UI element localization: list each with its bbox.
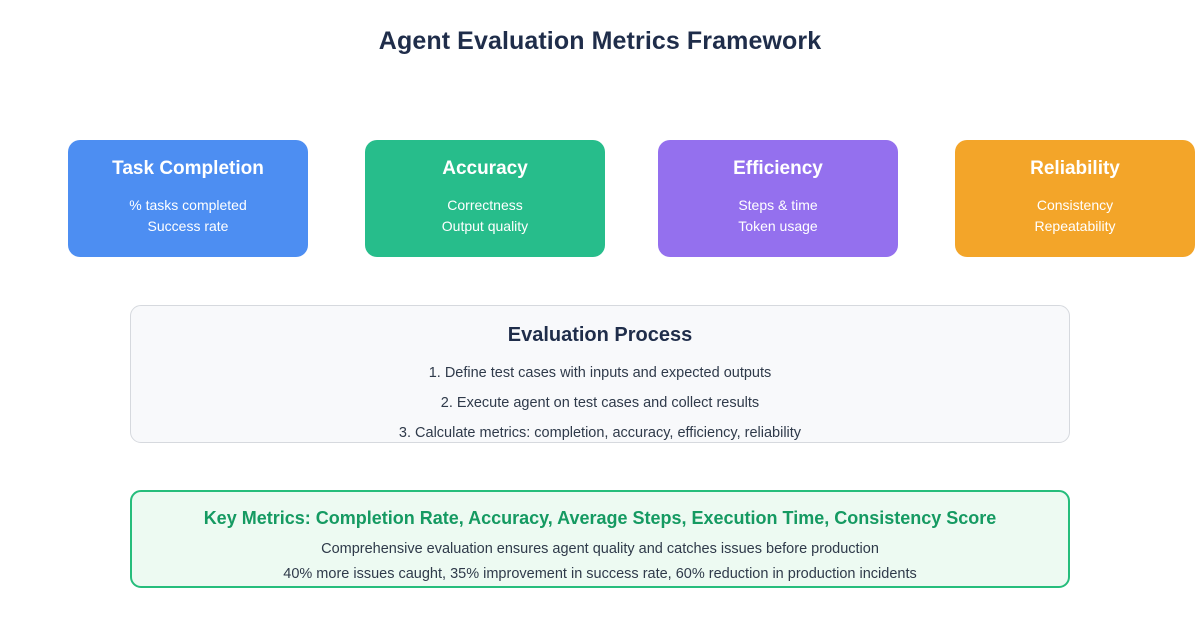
- key-metrics-line: 40% more issues caught, 35% improvement …: [132, 562, 1068, 587]
- metric-card-title: Efficiency: [658, 157, 898, 181]
- metric-card-task-completion[interactable]: Task Completion % tasks completed Succes…: [68, 140, 308, 257]
- metric-card-details: % tasks completed Success rate: [68, 195, 308, 237]
- metric-card-line: Token usage: [658, 216, 898, 237]
- evaluation-process-step: 3. Calculate metrics: completion, accura…: [131, 418, 1069, 448]
- metric-card-line: Correctness: [365, 195, 605, 216]
- metric-card-line: Repeatability: [955, 216, 1195, 237]
- page-title: Agent Evaluation Metrics Framework: [0, 27, 1200, 56]
- metric-card-line: Success rate: [68, 216, 308, 237]
- metric-card-line: Consistency: [955, 195, 1195, 216]
- key-metrics-title: Key Metrics: Completion Rate, Accuracy, …: [132, 506, 1068, 530]
- metric-card-accuracy[interactable]: Accuracy Correctness Output quality: [365, 140, 605, 257]
- metric-card-title: Reliability: [955, 157, 1195, 181]
- evaluation-process-step: 1. Define test cases with inputs and exp…: [131, 358, 1069, 388]
- metric-card-title: Accuracy: [365, 157, 605, 181]
- metric-card-details: Consistency Repeatability: [955, 195, 1195, 237]
- key-metrics-line: Comprehensive evaluation ensures agent q…: [132, 537, 1068, 562]
- metric-card-title: Task Completion: [68, 157, 308, 181]
- metric-cards-row: Task Completion % tasks completed Succes…: [68, 140, 1168, 257]
- evaluation-process-step: 2. Execute agent on test cases and colle…: [131, 388, 1069, 418]
- metric-card-efficiency[interactable]: Efficiency Steps & time Token usage: [658, 140, 898, 257]
- metric-card-reliability[interactable]: Reliability Consistency Repeatability: [955, 140, 1195, 257]
- metric-card-details: Correctness Output quality: [365, 195, 605, 237]
- metric-card-line: % tasks completed: [68, 195, 308, 216]
- evaluation-process-panel: Evaluation Process 1. Define test cases …: [130, 305, 1070, 443]
- metric-card-details: Steps & time Token usage: [658, 195, 898, 237]
- metric-card-line: Steps & time: [658, 195, 898, 216]
- metric-card-line: Output quality: [365, 216, 605, 237]
- key-metrics-summary-panel: Key Metrics: Completion Rate, Accuracy, …: [130, 490, 1070, 588]
- evaluation-process-title: Evaluation Process: [131, 322, 1069, 348]
